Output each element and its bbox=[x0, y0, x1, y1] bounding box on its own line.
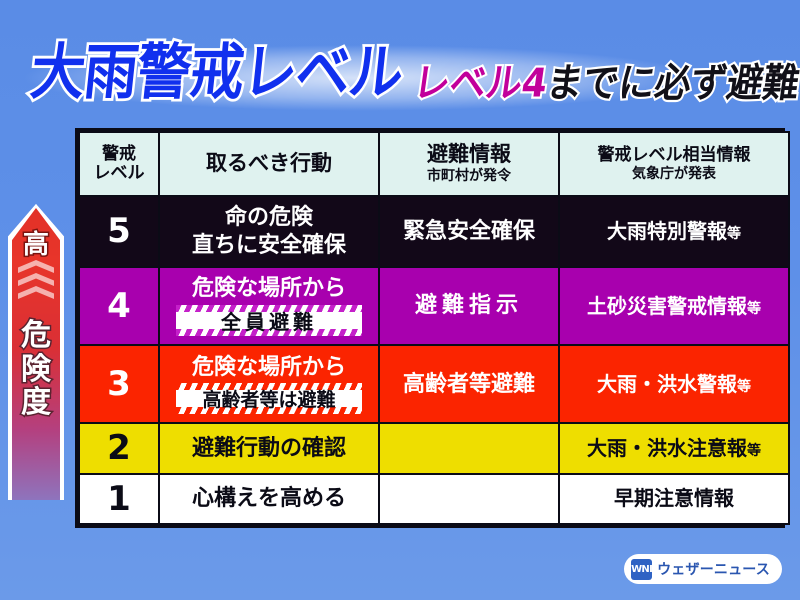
column-header-level-line1: 警戒 bbox=[80, 145, 158, 164]
action-banner: 高齢者等は避難 bbox=[176, 383, 362, 414]
warning-info-text: 早期注意情報 bbox=[614, 486, 734, 510]
action-line-1: 心構えを高める bbox=[160, 486, 378, 511]
column-header-warning-sub: 気象庁が発表 bbox=[560, 166, 788, 183]
warning-info-suffix: 等 bbox=[727, 226, 741, 242]
warning-level-table: 警戒 レベル 取るべき行動 避難情報 市町村が発令 警戒レベル相当情報 気象庁が… bbox=[75, 128, 785, 528]
page-title: 大雨警戒レベル レベル4までに必ず避難 bbox=[0, 38, 800, 114]
evacuation-cell bbox=[379, 474, 559, 524]
action-line-1: 命の危険 bbox=[225, 205, 313, 230]
action-banner-label: 全員避難 bbox=[221, 306, 317, 335]
column-header-evacuation-sub: 市町村が発令 bbox=[380, 168, 558, 185]
table-row: 3 危険な場所から 高齢者等は避難 高齢者等避難 bbox=[79, 345, 789, 423]
logo-label: ウェザーニュース bbox=[657, 559, 770, 579]
level-number: 2 bbox=[79, 423, 159, 473]
wni-logo-icon: WNI bbox=[631, 559, 652, 580]
arrow-vertical-label: 危 険 度 bbox=[12, 320, 60, 419]
level-number: 1 bbox=[79, 474, 159, 524]
arrow-char-2: 険 bbox=[21, 354, 51, 386]
warning-info-text: 大雨・洪水警報 bbox=[597, 372, 737, 396]
chevron-group bbox=[12, 260, 60, 310]
action-cell: 危険な場所から 高齢者等は避難 bbox=[159, 345, 379, 423]
chevron-up-icon bbox=[18, 260, 54, 273]
column-header-evacuation-label: 避難情報 bbox=[380, 143, 558, 167]
warning-info: 早期注意情報 bbox=[560, 487, 788, 510]
column-header-level-line2: レベル bbox=[80, 164, 158, 183]
table-header-row: 警戒 レベル 取るべき行動 避難情報 市町村が発令 警戒レベル相当情報 気象庁が… bbox=[79, 132, 789, 196]
warning-cell: 早期注意情報 bbox=[559, 474, 789, 524]
level-number: 4 bbox=[79, 267, 159, 345]
action-cell: 危険な場所から 全員避難 bbox=[159, 267, 379, 345]
action-line-2: 直ちに安全確保 bbox=[192, 233, 346, 258]
table-row: 2 避難行動の確認 大雨・洪水注意報等 bbox=[79, 423, 789, 473]
action-cell: 避難行動の確認 bbox=[159, 423, 379, 473]
warning-info-suffix: 等 bbox=[747, 301, 761, 317]
warning-info: 大雨特別警報等 bbox=[560, 220, 788, 243]
evacuation-cell bbox=[379, 423, 559, 473]
action-banner: 全員避難 bbox=[176, 305, 362, 336]
warning-info-text: 土砂災害警戒情報 bbox=[587, 294, 747, 318]
evacuation-info: 避難指示 bbox=[380, 293, 558, 318]
action-line-1: 危険な場所から bbox=[192, 355, 346, 380]
warning-info: 大雨・洪水注意報等 bbox=[560, 437, 788, 460]
evacuation-cell: 緊急安全確保 bbox=[379, 196, 559, 267]
column-header-action: 取るべき行動 bbox=[159, 132, 379, 196]
warning-cell: 大雨特別警報等 bbox=[559, 196, 789, 267]
evacuation-info: 高齢者等避難 bbox=[380, 372, 558, 397]
warning-info: 土砂災害警戒情報等 bbox=[560, 295, 788, 318]
arrow-char-1: 危 bbox=[21, 320, 51, 352]
table-row: 5 命の危険 直ちに安全確保 緊急安全確保 大雨特別警報等 bbox=[79, 196, 789, 267]
warning-cell: 大雨・洪水注意報等 bbox=[559, 423, 789, 473]
action-line-1: 危険な場所から bbox=[192, 276, 346, 301]
warning-info-suffix: 等 bbox=[737, 379, 751, 395]
arrow-top-label: 高 bbox=[12, 224, 60, 261]
warning-cell: 大雨・洪水警報等 bbox=[559, 345, 789, 423]
arrow-char-3: 度 bbox=[21, 387, 51, 419]
chevron-up-icon bbox=[18, 286, 54, 299]
warning-info-suffix: 等 bbox=[747, 443, 761, 459]
action-banner-label: 高齢者等は避難 bbox=[202, 385, 335, 412]
level-number: 5 bbox=[79, 196, 159, 267]
warning-info-text: 大雨・洪水注意報 bbox=[587, 436, 747, 460]
column-header-evacuation: 避難情報 市町村が発令 bbox=[379, 132, 559, 196]
column-header-warning-label: 警戒レベル相当情報 bbox=[560, 146, 788, 165]
table-row: 4 危険な場所から 全員避難 避難指示 bbox=[79, 267, 789, 345]
infographic-canvas: 大雨警戒レベル レベル4までに必ず避難 高 危 険 度 bbox=[0, 0, 800, 600]
weathernews-logo: WNI ウェザーニュース bbox=[624, 554, 782, 584]
action-cell: 命の危険 直ちに安全確保 bbox=[159, 196, 379, 267]
page-title-sub-rest: までに必ず避難 bbox=[544, 61, 800, 106]
warning-info-text: 大雨特別警報 bbox=[607, 219, 727, 243]
action-line-1: 避難行動の確認 bbox=[160, 436, 378, 461]
page-title-sub: レベル4までに必ず避難 bbox=[411, 64, 800, 104]
evacuation-cell: 高齢者等避難 bbox=[379, 345, 559, 423]
page-title-sub-highlight: レベル4 bbox=[411, 61, 550, 106]
chevron-up-icon bbox=[18, 273, 54, 286]
action-cell: 心構えを高める bbox=[159, 474, 379, 524]
column-header-level: 警戒 レベル bbox=[79, 132, 159, 196]
column-header-warning: 警戒レベル相当情報 気象庁が発表 bbox=[559, 132, 789, 196]
page-title-main: 大雨警戒レベル bbox=[28, 43, 405, 103]
danger-level-arrow: 高 危 険 度 bbox=[12, 208, 60, 500]
warning-cell: 土砂災害警戒情報等 bbox=[559, 267, 789, 345]
column-header-action-label: 取るべき行動 bbox=[160, 152, 378, 176]
level-number: 3 bbox=[79, 345, 159, 423]
table-row: 1 心構えを高める 早期注意情報 bbox=[79, 474, 789, 524]
evacuation-info: 緊急安全確保 bbox=[380, 219, 558, 244]
warning-info: 大雨・洪水警報等 bbox=[560, 373, 788, 396]
evacuation-cell: 避難指示 bbox=[379, 267, 559, 345]
